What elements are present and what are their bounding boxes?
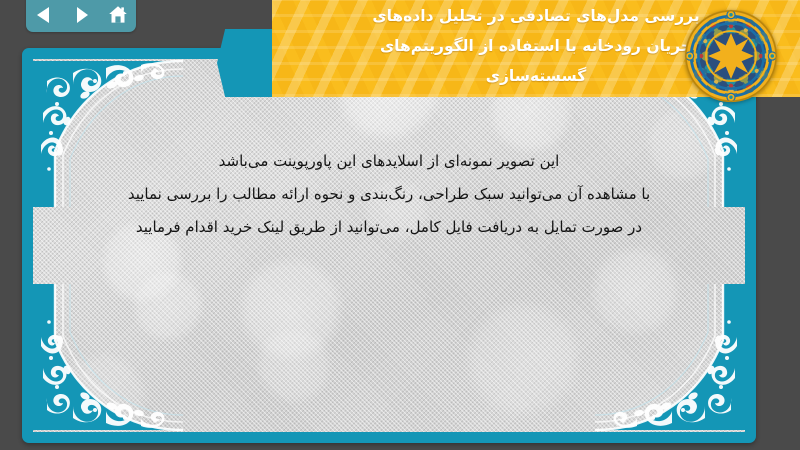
title-line-3: گسسته‌سازی <box>486 61 586 91</box>
content-card: این تصویر نمونه‌ای از اسلایدهای این پاور… <box>22 48 756 443</box>
home-button[interactable] <box>105 2 131 28</box>
arabesque-corner-ornament <box>595 284 745 432</box>
halftone-texture <box>33 59 745 432</box>
slide-navigation-bar <box>26 0 136 32</box>
bokeh-circle <box>255 327 333 405</box>
arabesque-corner-ornament <box>33 284 183 432</box>
body-line-2: با مشاهده آن می‌توانید سبک طراحی، رنگ‌بن… <box>75 178 703 211</box>
content-area: این تصویر نمونه‌ای از اسلایدهای این پاور… <box>33 59 745 432</box>
slide-canvas: بررسی مدل‌های تصادفی در تحلیل داده‌های ج… <box>0 0 800 450</box>
bokeh-circle <box>463 299 583 419</box>
next-slide-button[interactable] <box>68 2 94 28</box>
home-icon <box>107 4 129 26</box>
bokeh-circle <box>237 255 345 363</box>
bokeh-circle <box>53 351 149 432</box>
body-line-1: این تصویر نمونه‌ای از اسلایدهای این پاور… <box>75 145 703 178</box>
bokeh-circle <box>589 245 681 337</box>
triangle-right-icon <box>71 5 91 25</box>
banner-arrow-connector <box>217 29 275 97</box>
title-line-1: بررسی مدل‌های تصادفی در تحلیل داده‌های <box>372 1 699 31</box>
bokeh-circle <box>131 269 205 343</box>
slide-body-text: این تصویر نمونه‌ای از اسلایدهای این پاور… <box>33 145 745 244</box>
title-line-2: جریان رودخانه با استفاده از الگوریتم‌های <box>380 31 692 61</box>
persian-mandala-medallion <box>683 8 779 104</box>
triangle-left-icon <box>34 5 54 25</box>
previous-slide-button[interactable] <box>31 2 57 28</box>
body-line-3: در صورت تمایل به دریافت فایل کامل، می‌تو… <box>75 211 703 244</box>
